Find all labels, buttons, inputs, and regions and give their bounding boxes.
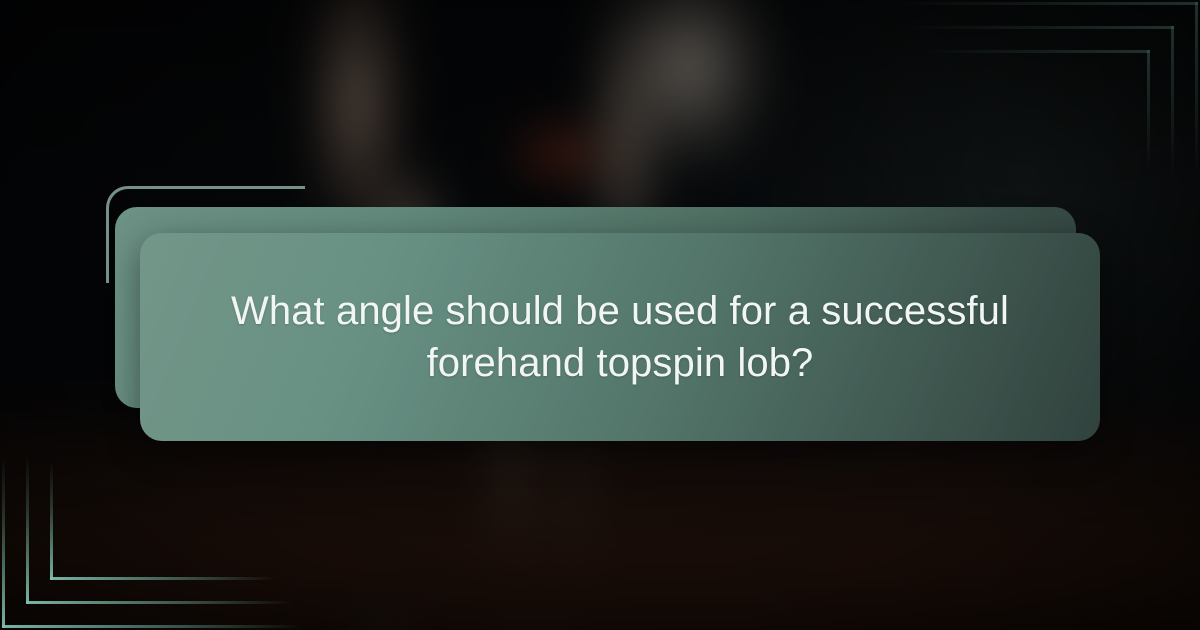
- question-card-canvas: What angle should be used for a successf…: [0, 0, 1200, 630]
- question-text: What angle should be used for a successf…: [196, 285, 1044, 389]
- question-card: What angle should be used for a successf…: [140, 233, 1100, 441]
